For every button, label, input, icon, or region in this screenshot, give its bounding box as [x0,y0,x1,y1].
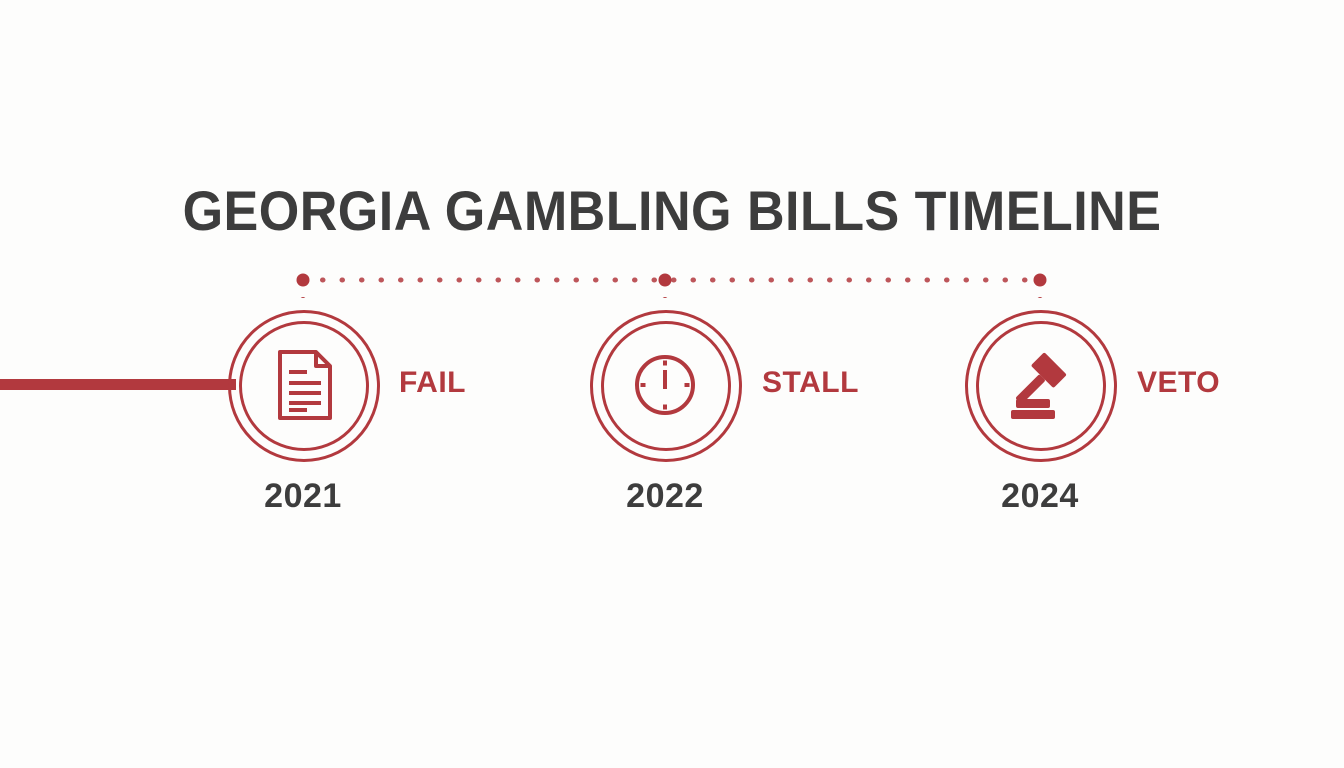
year-label-2021: 2021 [228,477,378,516]
milestone-2024[interactable] [965,310,1115,460]
year-label-2024: 2024 [965,477,1115,516]
status-badge-2024: VETO [1137,366,1220,400]
document-icon [261,343,345,427]
gavel-icon [998,343,1082,427]
year-label-2022: 2022 [590,477,740,516]
infographic-canvas: GEORGIA GAMBLING BILLS TIMELINE FAIL [0,0,1344,768]
dotted-connector-line [0,258,1344,298]
status-badge-2021: FAIL [399,366,466,400]
milestone-2021[interactable] [228,310,378,460]
timeline-rail-bar [0,379,236,390]
status-badge-2022: STALL [762,366,859,400]
page-title: GEORGIA GAMBLING BILLS TIMELINE [47,178,1297,243]
clock-icon [623,343,707,427]
milestone-2022[interactable] [590,310,740,460]
